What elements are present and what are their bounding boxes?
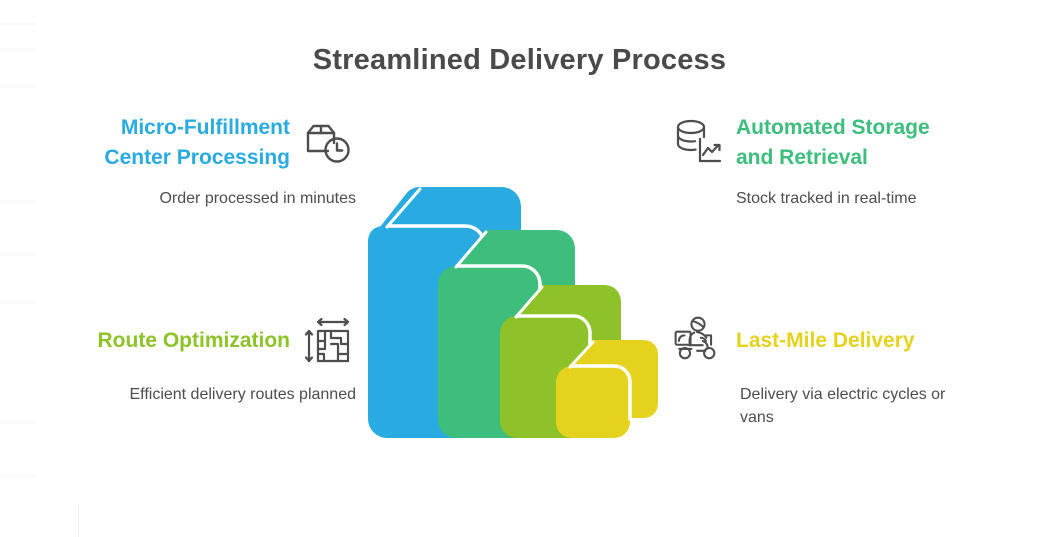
feature-card-route-optimization: Route Optimization xyxy=(56,313,356,406)
floorplan-dimensions-icon xyxy=(300,313,356,369)
feature-description: Order processed in minutes xyxy=(56,187,356,210)
feature-header: Automated Storage and Retrieval xyxy=(670,113,970,173)
background-artifact xyxy=(0,84,36,88)
background-artifact xyxy=(0,420,36,424)
feature-header: Route Optimization xyxy=(56,313,356,369)
feature-card-automated-storage-and-retrieval: Automated Storage and Retrieval Stock tr… xyxy=(670,113,970,210)
page-title: Streamlined Delivery Process xyxy=(0,44,1039,77)
feature-title: Route Optimization xyxy=(56,326,290,356)
database-chart-icon xyxy=(670,113,726,169)
background-artifact xyxy=(0,300,36,304)
feature-title: Last-Mile Delivery xyxy=(736,326,970,356)
feature-description: Delivery via electric cycles or vans xyxy=(740,383,970,429)
feature-header: Micro-Fulfillment Center Processing xyxy=(56,113,356,173)
feature-card-micro-fulfillment-center-processing: Micro-Fulfillment Center Processing Orde… xyxy=(56,113,356,210)
feature-card-last-mile-delivery: Last-Mile Delivery Delivery via electric… xyxy=(670,313,970,429)
background-artifact xyxy=(0,474,36,478)
central-stacked-plates-graphic xyxy=(360,170,680,460)
package-clock-icon xyxy=(300,113,356,169)
background-artifact xyxy=(0,252,36,256)
background-artifact xyxy=(0,200,36,204)
feature-title: Micro-Fulfillment Center Processing xyxy=(56,113,290,173)
feature-header: Last-Mile Delivery xyxy=(670,313,970,369)
infographic-canvas: Streamlined Delivery Process Micro-Fulfi… xyxy=(0,0,1039,537)
background-artifact xyxy=(78,505,79,537)
background-artifact xyxy=(0,22,36,26)
feature-description: Efficient delivery routes planned xyxy=(56,383,356,406)
feature-description: Stock tracked in real-time xyxy=(736,187,970,210)
feature-title: Automated Storage and Retrieval xyxy=(736,113,970,173)
